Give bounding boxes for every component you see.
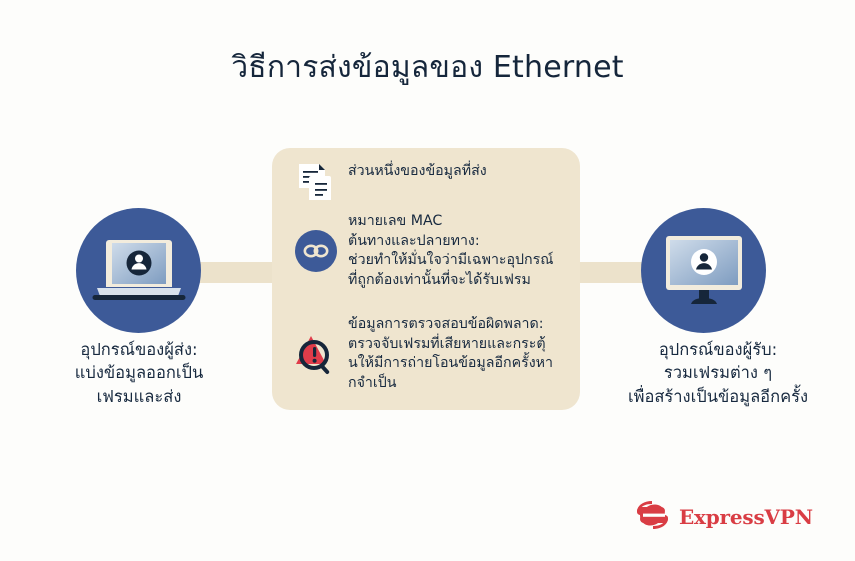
expressvpn-logo: ExpressVPN xyxy=(636,500,813,534)
panel-row-text: ข้อมูลการตรวจสอบข้อผิดพลาด: ตรวจจับเฟรมท… xyxy=(344,315,553,393)
desktop-monitor-user-icon xyxy=(658,230,750,312)
connector-bar-left xyxy=(190,262,285,283)
sender-caption: อุปกรณ์ของผู้ส่ง: แบ่งข้อมูลออกเป็น เฟรม… xyxy=(24,338,254,408)
expressvpn-e-mark-icon xyxy=(636,500,670,534)
page-title: วิธีการส่งข้อมูลของ Ethernet xyxy=(0,48,855,87)
panel-row-data-portion: ส่วนหนึ่งของข้อมูลที่ส่ง xyxy=(288,162,580,202)
infographic-canvas: วิธีการส่งข้อมูลของ Ethernet xyxy=(0,0,855,561)
receiver-device-circle xyxy=(641,208,766,333)
chain-link-icon xyxy=(288,212,344,290)
panel-row-text: หมายเลข MAC ต้นทางและปลายทาง: ช่วยทำให้ม… xyxy=(344,212,553,290)
receiver-caption: อุปกรณ์ของผู้รับ: รวมเฟรมต่าง ๆ เพื่อสร้… xyxy=(598,338,838,408)
panel-row-error-check: ข้อมูลการตรวจสอบข้อผิดพลาด: ตรวจจับเฟรมท… xyxy=(288,315,580,393)
expressvpn-wordmark: ExpressVPN xyxy=(679,505,813,529)
laptop-user-icon xyxy=(91,232,187,310)
documents-icon xyxy=(288,162,344,202)
error-warning-magnifier-icon xyxy=(288,315,344,393)
panel-row-text: ส่วนหนึ่งของข้อมูลที่ส่ง xyxy=(344,162,487,182)
sender-device-circle xyxy=(76,208,201,333)
panel-row-mac-address: หมายเลข MAC ต้นทางและปลายทาง: ช่วยทำให้ม… xyxy=(288,212,580,290)
